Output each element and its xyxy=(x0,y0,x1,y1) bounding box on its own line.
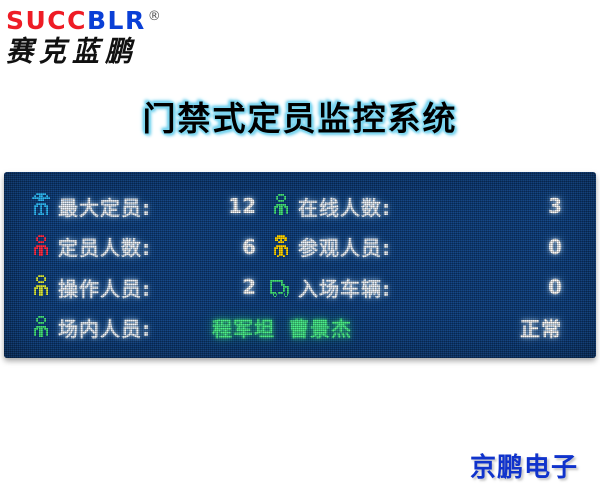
led-display-panel: 最大定员: 12 在线人数: 3 xyxy=(4,172,596,358)
led-occupant-names: 程军坦曹景杰 xyxy=(210,313,450,342)
led-label-operator-count: 操作人员: xyxy=(58,273,210,302)
led-value-visitor-count: 0 xyxy=(450,235,580,259)
led-value-vehicle-count: 0 xyxy=(450,275,580,299)
page-title: 门禁式定员监控系统 xyxy=(0,92,600,140)
led-value-max-capacity: 12 xyxy=(210,194,268,218)
footer-company-mark: 京鹏电子 xyxy=(470,447,578,484)
person-icon-staff-quota xyxy=(28,232,54,262)
led-label-occupants: 场内人员: xyxy=(58,313,210,342)
brand-wordmark-blue: BLR xyxy=(87,6,146,35)
led-status-badge: 正常 xyxy=(450,313,580,342)
person-visitor-icon xyxy=(268,232,294,262)
person-icon-online xyxy=(268,191,294,221)
registered-trademark-icon: ® xyxy=(148,9,163,24)
brand-chinese-name: 赛克蓝鹏 xyxy=(6,38,246,66)
led-label-staff-quota: 定员人数: xyxy=(58,232,210,261)
occupant-name-2: 曹景杰 xyxy=(289,317,352,341)
led-value-online-count: 3 xyxy=(450,194,580,218)
led-value-operator-count: 2 xyxy=(210,275,268,299)
person-helmet-icon xyxy=(28,191,54,221)
led-value-staff-quota: 6 xyxy=(210,235,268,259)
truck-icon xyxy=(268,272,294,302)
led-label-vehicle-count: 入场车辆: xyxy=(298,273,450,302)
led-label-online-count: 在线人数: xyxy=(298,192,450,221)
brand-wordmark: SUCCBLR® xyxy=(6,8,246,33)
occupant-name-1: 程军坦 xyxy=(212,317,275,341)
person-icon-occupants xyxy=(28,313,54,343)
brand-logo: SUCCBLR® 赛克蓝鹏 xyxy=(6,8,246,70)
brand-wordmark-red: SUCC xyxy=(6,6,87,35)
led-label-max-capacity: 最大定员: xyxy=(58,192,210,221)
person-icon-operators xyxy=(28,272,54,302)
led-content-grid: 最大定员: 12 在线人数: 3 xyxy=(4,172,596,358)
led-label-visitor-count: 参观人员: xyxy=(298,232,450,261)
